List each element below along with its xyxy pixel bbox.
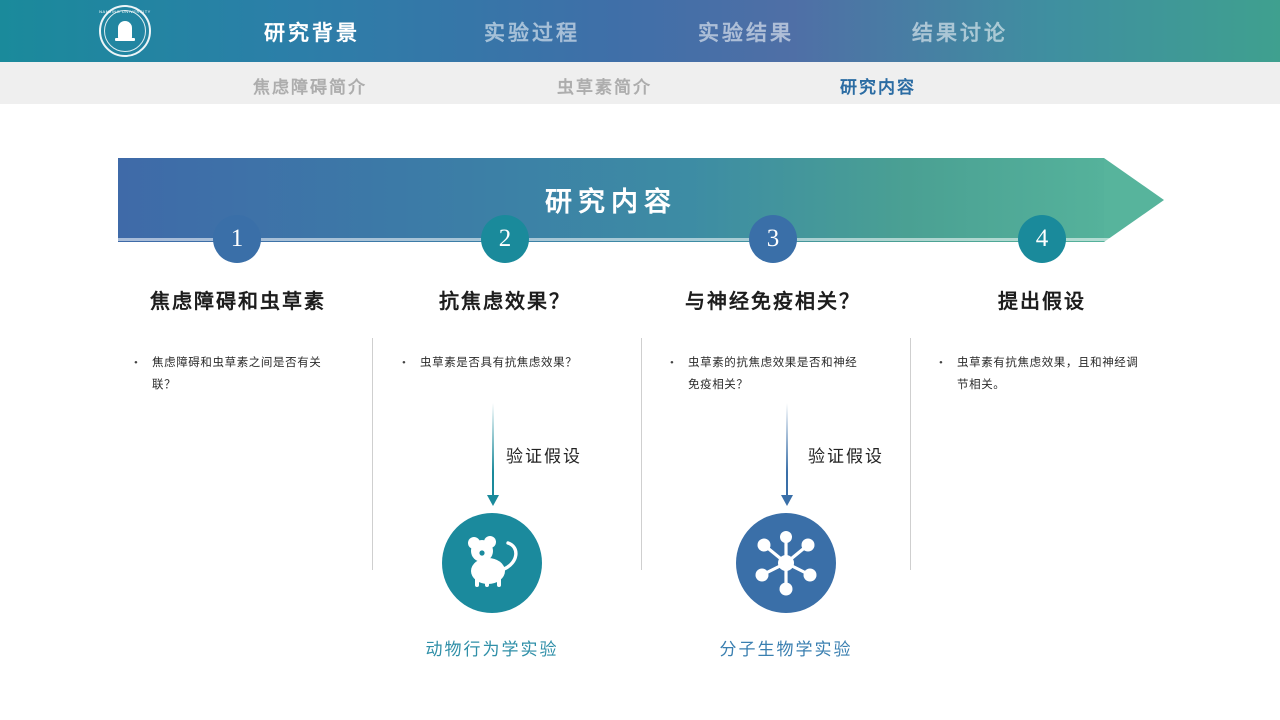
banner-arrow-tip: [1104, 158, 1164, 242]
step-bullet-text-4: 虫草素有抗焦虑效果，且和神经调节相关。: [957, 357, 1139, 391]
step-bullet-2: • 虫草素是否具有抗焦虑效果？: [420, 352, 605, 374]
subtab-cordycepin-intro[interactable]: 虫草素简介: [557, 73, 652, 98]
column-divider-2: [641, 338, 642, 570]
subtab-anxiety-disorder-intro[interactable]: 焦虑障碍简介: [253, 73, 367, 98]
tab-research-background[interactable]: 研究背景: [264, 17, 360, 47]
section-banner: 研究内容: [118, 158, 1164, 242]
arrow-shaft: [786, 403, 788, 495]
bullet-dot-icon: •: [939, 352, 943, 374]
molecule-icon: [736, 513, 836, 613]
molecule-icon-circle: [736, 513, 836, 613]
step-bullet-text-1: 焦虑障碍和虫草素之间是否有关联？: [152, 357, 321, 391]
step-title-1: 焦虑障碍和虫草素: [88, 285, 388, 314]
arrow-head: [781, 495, 793, 506]
university-logo: NANJING UNIVERSITY: [96, 4, 154, 58]
column-divider-3: [910, 338, 911, 570]
step-title-2: 抗焦虑效果？: [355, 285, 655, 314]
timeline-line: [118, 238, 1164, 241]
mouse-icon-circle: [442, 513, 542, 613]
down-arrow-icon-2: [786, 403, 788, 503]
tab-results-discussion[interactable]: 结果讨论: [912, 17, 1008, 47]
tab-experiment-results[interactable]: 实验结果: [698, 17, 794, 47]
logo-bell-icon: [118, 21, 132, 39]
tab-experiment-process[interactable]: 实验过程: [484, 17, 580, 47]
step-bullet-text-2: 虫草素是否具有抗焦虑效果？: [420, 357, 577, 369]
step-bullet-4: • 虫草素有抗焦虑效果，且和神经调节相关。: [957, 352, 1142, 396]
subtab-research-content[interactable]: 研究内容: [840, 73, 916, 98]
step-bullet-1: • 焦虑障碍和虫草素之间是否有关联？: [152, 352, 327, 396]
top-nav-items: 研究背景 实验过程 实验结果 结果讨论: [200, 0, 1200, 62]
sub-navigation-bar: 焦虑障碍简介 虫草素简介 研究内容: [0, 62, 1280, 104]
step-marker-4: 4: [1018, 215, 1066, 263]
bullet-dot-icon: •: [134, 352, 138, 374]
bullet-dot-icon: •: [670, 352, 674, 374]
arrow-label-1: 验证假设: [506, 442, 582, 467]
icon-caption-animal-behavior: 动物行为学实验: [362, 635, 622, 660]
banner-title: 研究内容: [118, 180, 1104, 219]
step-title-4: 提出假设: [892, 285, 1192, 314]
top-navigation-bar: NANJING UNIVERSITY 研究背景 实验过程 实验结果 结果讨论: [0, 0, 1280, 62]
logo-bell-base: [115, 38, 135, 41]
step-title-3: 与神经免疫相关？: [623, 285, 923, 314]
arrow-head: [487, 495, 499, 506]
arrow-shaft: [492, 403, 494, 495]
step-bullet-text-3: 虫草素的抗焦虑效果是否和神经免疫相关？: [688, 357, 857, 391]
arrow-label-2: 验证假设: [808, 442, 884, 467]
mouse-icon: [442, 513, 542, 613]
down-arrow-icon-1: [492, 403, 494, 503]
logo-text: NANJING UNIVERSITY: [96, 9, 154, 14]
icon-caption-molecular-biology: 分子生物学实验: [656, 635, 916, 660]
step-marker-1: 1: [213, 215, 261, 263]
column-divider-1: [372, 338, 373, 570]
step-bullet-3: • 虫草素的抗焦虑效果是否和神经免疫相关？: [688, 352, 868, 396]
step-marker-3: 3: [749, 215, 797, 263]
step-marker-2: 2: [481, 215, 529, 263]
bullet-dot-icon: •: [402, 352, 406, 374]
